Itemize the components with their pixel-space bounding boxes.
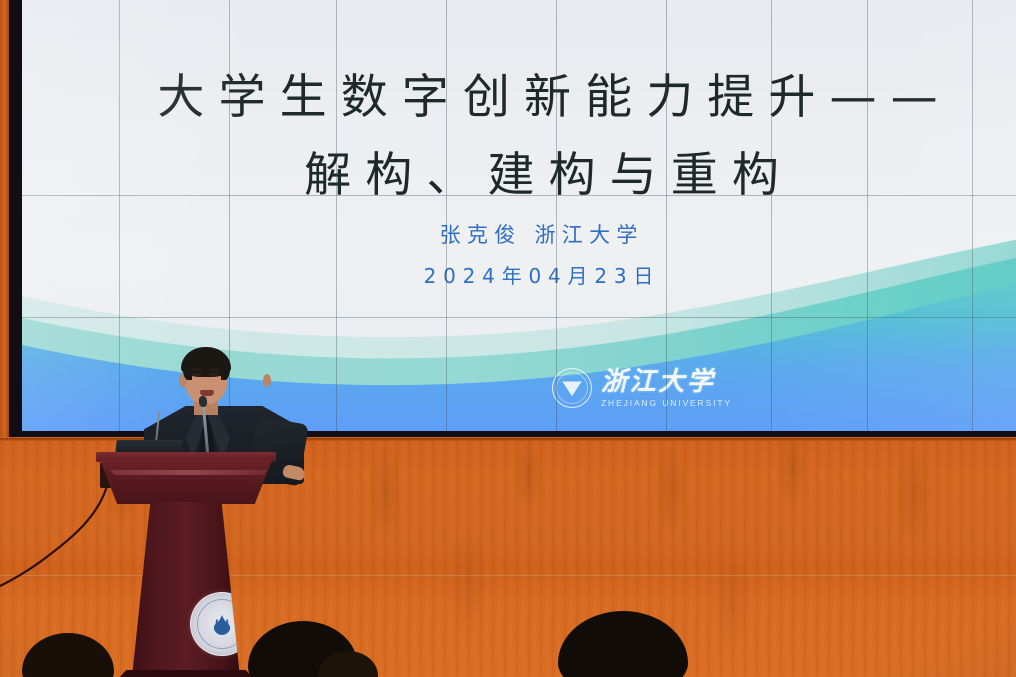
speaker-eye-right (209, 373, 218, 376)
podium-base (118, 670, 254, 677)
speaker-ear-right (263, 374, 271, 387)
zju-logo-english: ZHEJIANG UNIVERSITY (601, 399, 732, 408)
speaker-eye-left (192, 373, 201, 376)
speaker-eyebrow-right (208, 368, 219, 371)
speaker-hair (181, 347, 231, 377)
slide-date: 2024年04月23日 (37, 260, 1016, 289)
podium-desk-front (100, 460, 272, 504)
speaker-eyebrow-left (191, 368, 202, 371)
slide-title-line-2: 解构、建构与重构 (40, 136, 1016, 205)
crest-bird-glyph (208, 612, 236, 638)
lecture-hall-scene: 大学生数字创新能力提升—— 解构、建构与重构 张克俊 浙江大学 2024年04月… (0, 0, 1016, 677)
microphone-icon (199, 396, 208, 408)
zhejiang-university-seal-icon (552, 368, 592, 408)
podium-highlight (110, 470, 268, 475)
zju-logo-chinese: 浙江大学 (601, 369, 732, 395)
school-crest-icon (190, 592, 254, 656)
slide-presenter-affiliation: 张克俊 浙江大学 (37, 219, 1016, 249)
wall-left-edge-trim (0, 0, 9, 437)
podium-column (132, 502, 240, 677)
slide-title-line-1: 大学生数字创新能力提升—— (46, 58, 1016, 127)
lectern-podium (96, 452, 276, 677)
zhejiang-university-logo: 浙江大学 ZHEJIANG UNIVERSITY (552, 368, 732, 408)
